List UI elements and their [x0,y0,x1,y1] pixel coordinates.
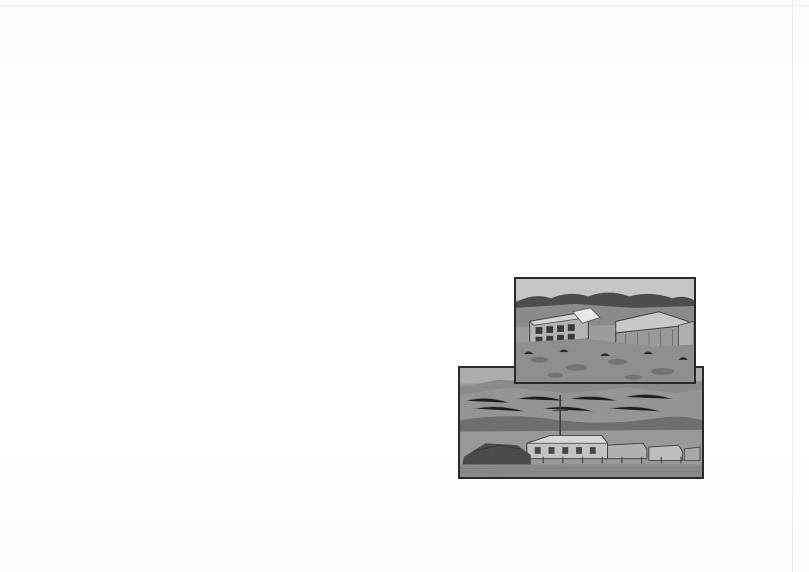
page-title-line-2: on the West Coast [60,93,750,128]
caption-line-2: 1847-1856 (1865) [440,508,760,529]
presidio-gate-art: PRESIDIO OF MONTEREY [64,355,416,519]
caption-line-2: Catesby Jones [588,178,738,198]
caption-line-1: Spanish and [261,160,391,180]
fort-buildings-photo [514,277,696,384]
pull-quote: “The most comprehensive Spanish military… [52,280,518,333]
presidio-sign-text: PRESIDIO OF MONTEREY [233,394,335,401]
scan-edge-right [792,0,793,572]
caption-line-3: Castillo [261,200,391,220]
catesby-jones-takes-monterey-drawing [400,140,576,245]
pull-quote-line-2: remains west of Saint Augustine, Florida… [52,306,518,332]
caption-line-3: Takes Monterey [588,198,738,218]
slide-page: Spanish and Mexican Castillo [0,0,809,572]
caption-catesby-jones: 1842 Catesby Jones Takes Monterey [588,158,738,218]
page-title-line-1: The Most Historically Significant Site [60,58,750,93]
caption-line-1: Fort Mervine (Monterey Redoubt): [440,487,760,508]
fort-buildings-art [516,279,694,382]
caption-line-1: 1842 [588,158,738,178]
castillo-engraving-art [63,138,245,240]
caption-line-2: Mexican [261,180,391,200]
page-title: The Most Historically Significant Site o… [60,58,750,127]
scan-edge-top [0,5,809,6]
caption-fort-mervine: Fort Mervine (Monterey Redoubt): 1847-18… [440,487,760,528]
presidio-of-monterey-gate-photo: PRESIDIO OF MONTEREY [62,353,418,521]
fort-mervine-art [460,368,702,477]
spanish-mexican-castillo-engraving [62,137,246,241]
caption-spanish-mexican-castillo: Spanish and Mexican Castillo [261,160,391,220]
catesby-drawing-art [401,141,575,244]
pull-quote-line-1: “The most comprehensive Spanish military… [52,280,518,306]
